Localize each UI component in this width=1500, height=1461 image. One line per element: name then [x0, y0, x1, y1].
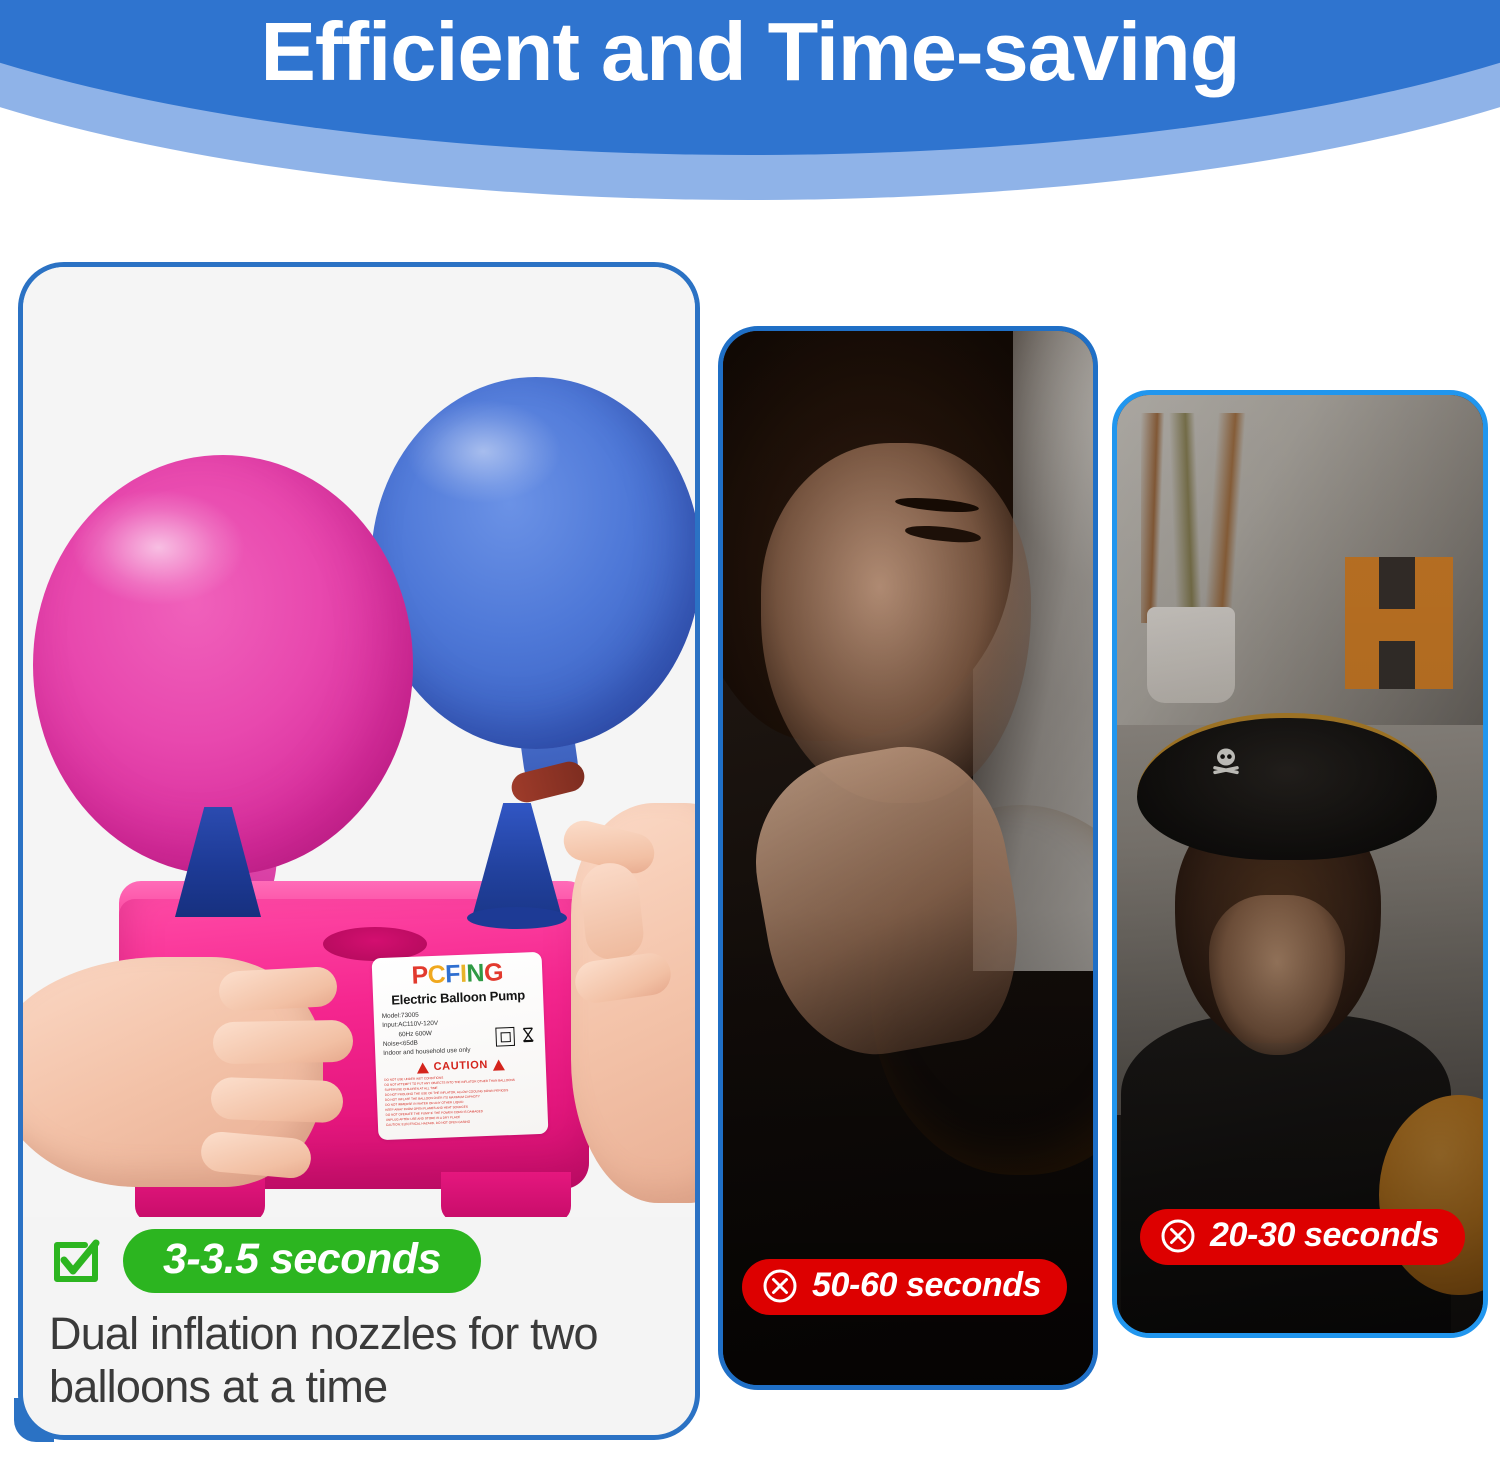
caution-text: CAUTION [433, 1059, 488, 1073]
header-banner: Efficient and Time-saving [0, 0, 1500, 210]
blue-balloon [371, 377, 695, 749]
photo-shading [723, 331, 1093, 1385]
brand-letter: C [427, 961, 446, 990]
good-badge-row: 3-3.5 seconds [49, 1229, 669, 1293]
brand-letter: F [445, 960, 461, 989]
brand-letter: N [466, 959, 485, 988]
page-title: Efficient and Time-saving [0, 8, 1500, 95]
right-time-badge: 20-30 seconds [1140, 1209, 1465, 1265]
brand-letter: P [411, 961, 428, 990]
woman-blowing-balloon-panel [718, 326, 1098, 1390]
product-panel: PCFING Electric Balloon Pump Model:73005… [18, 262, 700, 1440]
right-nozzle-icon [471, 803, 563, 921]
left-hand-finger [210, 1077, 343, 1124]
brand-letter: G [483, 958, 503, 987]
label-product-name: Electric Balloon Pump [379, 987, 537, 1008]
product-photo: PCFING Electric Balloon Pump Model:73005… [23, 267, 695, 1217]
balloon-tie [508, 758, 587, 805]
photo-shading [1117, 395, 1483, 1333]
label-caution-lines: DO NOT USE UNDER WET CONDITIONS DO NOT A… [382, 1072, 542, 1128]
product-caption: Dual inflation nozzles for two balloons … [49, 1307, 669, 1413]
middle-time-badge: 50-60 seconds [742, 1259, 1067, 1315]
check-box-icon [49, 1235, 101, 1287]
right-nozzle-ring [467, 907, 567, 929]
brand-logo: PCFING [378, 959, 537, 990]
woman-photo [723, 331, 1093, 1385]
left-hand-finger [218, 966, 338, 1012]
circle-x-icon [762, 1268, 798, 1304]
boy-blowing-balloon-panel [1112, 390, 1488, 1338]
product-label: PCFING Electric Balloon Pump Model:73005… [372, 952, 549, 1140]
boy-photo [1117, 395, 1483, 1333]
circle-x-icon [1160, 1218, 1196, 1254]
left-hand-finger [213, 1020, 354, 1064]
left-card-footer: 3-3.5 seconds Dual inflation nozzles for… [23, 1219, 695, 1413]
warning-triangle-icon [493, 1059, 505, 1070]
warning-triangle-icon [416, 1062, 428, 1073]
label-compliance-icons [495, 1026, 537, 1047]
badge-label: 50-60 seconds [812, 1266, 1041, 1305]
double-insulation-icon [495, 1027, 515, 1047]
badge-label: 20-30 seconds [1210, 1216, 1439, 1255]
no-hourglass-icon [519, 1026, 537, 1044]
good-time-badge: 3-3.5 seconds [123, 1229, 481, 1293]
pump-foot-right [441, 1172, 571, 1217]
